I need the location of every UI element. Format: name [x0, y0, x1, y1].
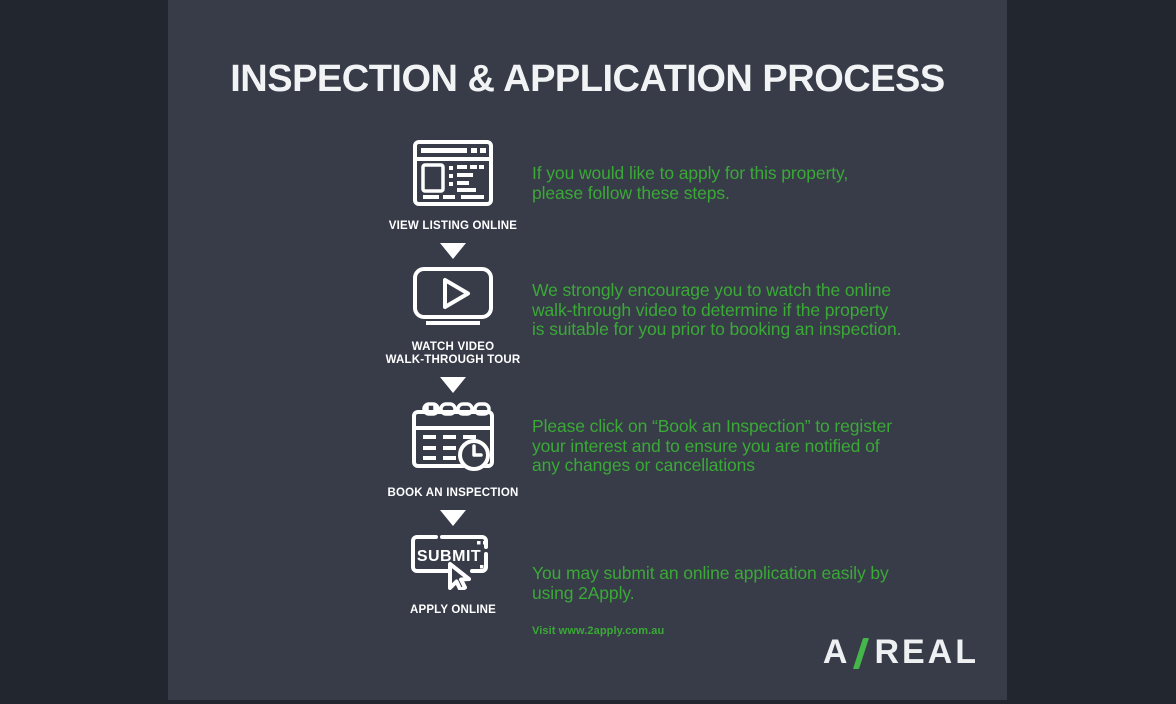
arrow-down-icon — [440, 377, 466, 393]
step-column: VIEW LISTING ONLINE WATCH VIDEO WALK-THR… — [343, 140, 563, 617]
step-label: APPLY ONLINE — [343, 604, 563, 617]
logo-left-text: A — [823, 633, 851, 672]
logo-right-text: REAL — [874, 633, 979, 672]
screenshot-root: INSPECTION & APPLICATION PROCESS — [0, 0, 1176, 704]
content-panel: INSPECTION & APPLICATION PROCESS — [168, 0, 1007, 700]
video-monitor-play-icon — [343, 267, 563, 332]
note-book-inspection: Please click on “Book an Inspection” to … — [532, 417, 892, 476]
step-watch-video-walk-through-tour[interactable]: WATCH VIDEO WALK-THROUGH TOUR — [343, 267, 563, 367]
step-label: WATCH VIDEO WALK-THROUGH TOUR — [343, 341, 563, 367]
visit-link[interactable]: Visit www.2apply.com.au — [532, 625, 664, 637]
step-label: BOOK AN INSPECTION — [343, 487, 563, 500]
note-watch-video: We strongly encourage you to watch the o… — [532, 281, 901, 340]
submit-button-cursor-icon: SUBMIT — [343, 534, 563, 595]
page-title: INSPECTION & APPLICATION PROCESS — [168, 58, 1007, 101]
arrow-down-icon — [440, 510, 466, 526]
green-slash-icon — [854, 638, 872, 668]
arrow-down-icon — [440, 243, 466, 259]
browser-listing-icon — [343, 140, 563, 211]
note-apply-online: You may submit an online application eas… — [532, 564, 889, 603]
step-label: VIEW LISTING ONLINE — [343, 220, 563, 233]
step-apply-online[interactable]: SUBMIT APPLY ONLINE — [343, 534, 563, 617]
brand-logo: A REAL — [823, 633, 979, 672]
step-view-listing-online[interactable]: VIEW LISTING ONLINE — [343, 140, 563, 233]
note-apply-intro: If you would like to apply for this prop… — [532, 164, 848, 203]
calendar-clock-icon — [343, 401, 563, 478]
step-book-an-inspection[interactable]: BOOK AN INSPECTION — [343, 401, 563, 500]
